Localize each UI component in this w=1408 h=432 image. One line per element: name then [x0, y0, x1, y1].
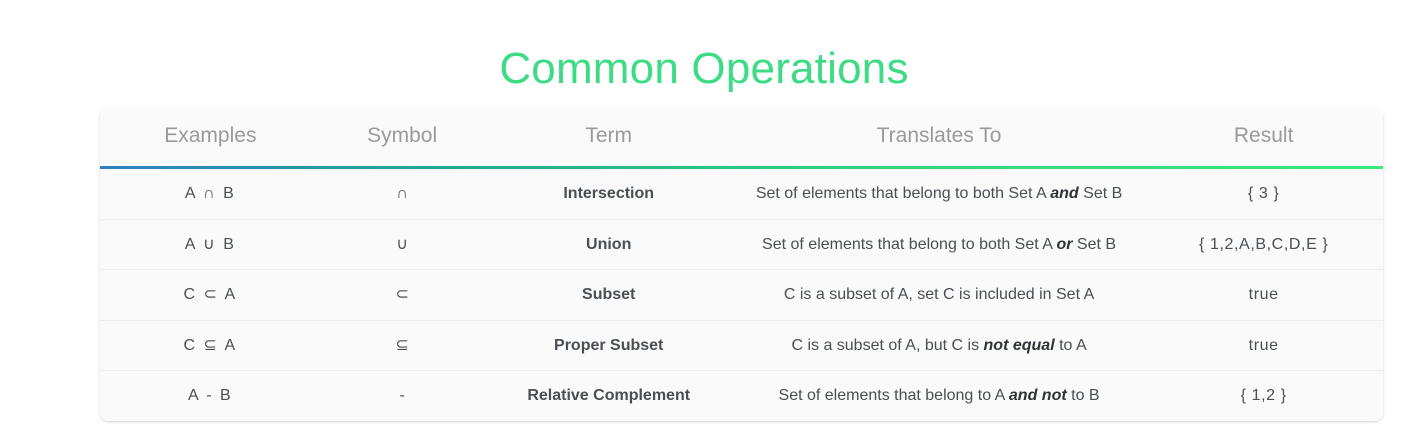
cell-symbol: ∪ [321, 219, 484, 270]
translation-pre: Set of elements that belong to both Set … [762, 236, 1056, 253]
cell-example: A - B [100, 371, 321, 421]
table-row: A ∩ B ∩ Intersection Set of elements tha… [100, 169, 1383, 219]
cell-example: C ⊆ A [100, 320, 321, 371]
column-header-examples: Examples [100, 108, 321, 166]
translation-post: Set B [1079, 185, 1123, 202]
column-header-result: Result [1144, 108, 1383, 166]
cell-translation: Set of elements that belong to both Set … [734, 169, 1145, 219]
cell-term: Intersection [484, 169, 734, 219]
translation-emphasis: and not [1009, 387, 1067, 404]
cell-example: A ∪ B [100, 219, 321, 270]
cell-translation: Set of elements that belong to A and not… [734, 371, 1145, 421]
operations-table: Examples Symbol Term Translates To Resul… [100, 108, 1383, 421]
cell-translation: C is a subset of A, set C is included in… [734, 270, 1145, 321]
column-header-translates-to: Translates To [734, 108, 1145, 166]
cell-result: { 1,2 } [1144, 371, 1383, 421]
translation-post: to A [1055, 337, 1087, 354]
translation-post: to B [1067, 387, 1100, 404]
translation-post: Set B [1072, 236, 1116, 253]
translation-emphasis: or [1056, 236, 1072, 253]
table-row: A - B - Relative Complement Set of eleme… [100, 371, 1383, 421]
cell-result: { 1,2,A,B,C,D,E } [1144, 219, 1383, 270]
cell-result: true [1144, 270, 1383, 321]
page-root: Common Operations Examples Symbol Term T… [0, 0, 1408, 432]
table-body: A ∩ B ∩ Intersection Set of elements tha… [100, 169, 1383, 421]
column-header-term: Term [484, 108, 734, 166]
cell-symbol: ⊆ [321, 320, 484, 371]
translation-pre: C is a subset of A, but C is [791, 337, 983, 354]
cell-term: Union [484, 219, 734, 270]
translation-emphasis: and [1050, 185, 1078, 202]
cell-symbol: - [321, 371, 484, 421]
cell-term: Proper Subset [484, 320, 734, 371]
table-header-row: Examples Symbol Term Translates To Resul… [100, 108, 1383, 166]
translation-pre: C is a subset of A, set C is included in… [784, 286, 1094, 303]
cell-result: true [1144, 320, 1383, 371]
cell-symbol: ⊂ [321, 270, 484, 321]
cell-translation: C is a subset of A, but C is not equal t… [734, 320, 1145, 371]
cell-result: { 3 } [1144, 169, 1383, 219]
table-row: A ∪ B ∪ Union Set of elements that belon… [100, 219, 1383, 270]
translation-emphasis: not equal [984, 337, 1055, 354]
table-row: C ⊆ A ⊆ Proper Subset C is a subset of A… [100, 320, 1383, 371]
operations-table-card: Examples Symbol Term Translates To Resul… [100, 108, 1383, 421]
cell-translation: Set of elements that belong to both Set … [734, 219, 1145, 270]
page-title: Common Operations [0, 41, 1408, 96]
translation-pre: Set of elements that belong to both Set … [756, 185, 1050, 202]
cell-example: A ∩ B [100, 169, 321, 219]
table-row: C ⊂ A ⊂ Subset C is a subset of A, set C… [100, 270, 1383, 321]
translation-pre: Set of elements that belong to A [779, 387, 1009, 404]
cell-term: Relative Complement [484, 371, 734, 421]
cell-example: C ⊂ A [100, 270, 321, 321]
cell-symbol: ∩ [321, 169, 484, 219]
column-header-symbol: Symbol [321, 108, 484, 166]
cell-term: Subset [484, 270, 734, 321]
table-header: Examples Symbol Term Translates To Resul… [100, 108, 1383, 169]
